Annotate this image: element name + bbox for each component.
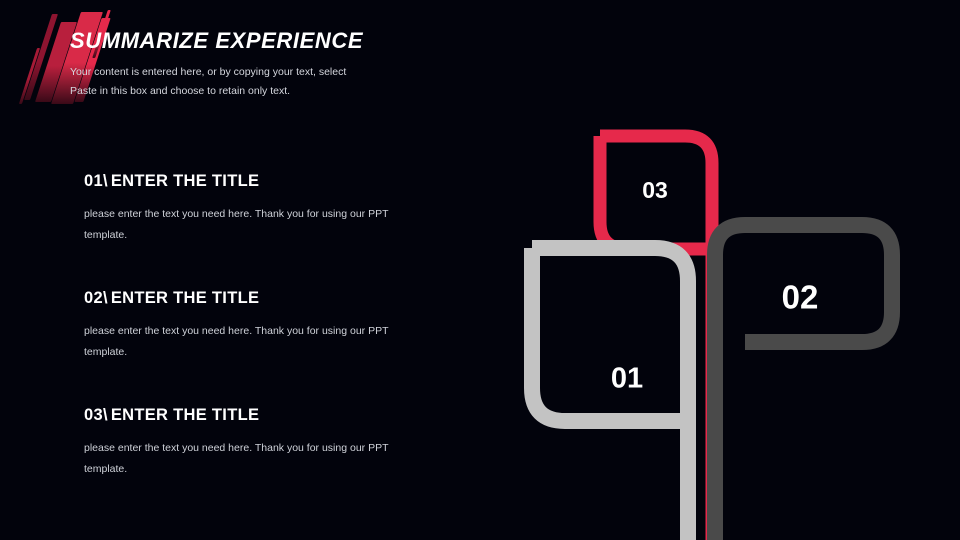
decoration-bar <box>24 14 58 100</box>
page-title: SUMMARIZE EXPERIENCE <box>70 28 590 54</box>
content-block-index: 01\ <box>84 172 108 190</box>
slide-root: SUMMARIZE EXPERIENCE Your content is ent… <box>0 0 960 540</box>
slide-header: SUMMARIZE EXPERIENCE Your content is ent… <box>70 28 590 100</box>
subtitle-line-1: Your content is entered here, or by copy… <box>70 63 590 81</box>
decoration-bar <box>19 48 40 104</box>
flag-graphic: 030201 <box>500 100 960 540</box>
content-block-body: please enter the text you need here. Tha… <box>84 438 424 480</box>
content-block: 02\ENTER THE TITLEplease enter the text … <box>84 289 444 363</box>
slide-subtitle: Your content is entered here, or by copy… <box>70 63 590 100</box>
content-block-index: 02\ <box>84 289 108 307</box>
flag-number-02: 02 <box>782 279 819 316</box>
content-block-heading-text: ENTER THE TITLE <box>111 172 259 190</box>
subtitle-line-2: Paste in this box and choose to retain o… <box>70 82 590 100</box>
content-block-title: 02\ENTER THE TITLE <box>84 289 444 308</box>
content-block: 01\ENTER THE TITLEplease enter the text … <box>84 172 444 246</box>
content-block-title: 01\ENTER THE TITLE <box>84 172 444 191</box>
flag-number-03: 03 <box>642 177 668 203</box>
flag-02-shape <box>715 225 892 540</box>
content-block-title: 03\ENTER THE TITLE <box>84 406 444 425</box>
content-block-body: please enter the text you need here. Tha… <box>84 204 424 246</box>
content-block-index: 03\ <box>84 406 108 424</box>
content-block-heading-text: ENTER THE TITLE <box>111 406 259 424</box>
flag-number-01: 01 <box>611 363 643 395</box>
content-block-body: please enter the text you need here. Tha… <box>84 321 424 363</box>
content-block-list: 01\ENTER THE TITLEplease enter the text … <box>84 172 444 480</box>
content-block: 03\ENTER THE TITLEplease enter the text … <box>84 406 444 480</box>
content-block-heading-text: ENTER THE TITLE <box>111 289 259 307</box>
